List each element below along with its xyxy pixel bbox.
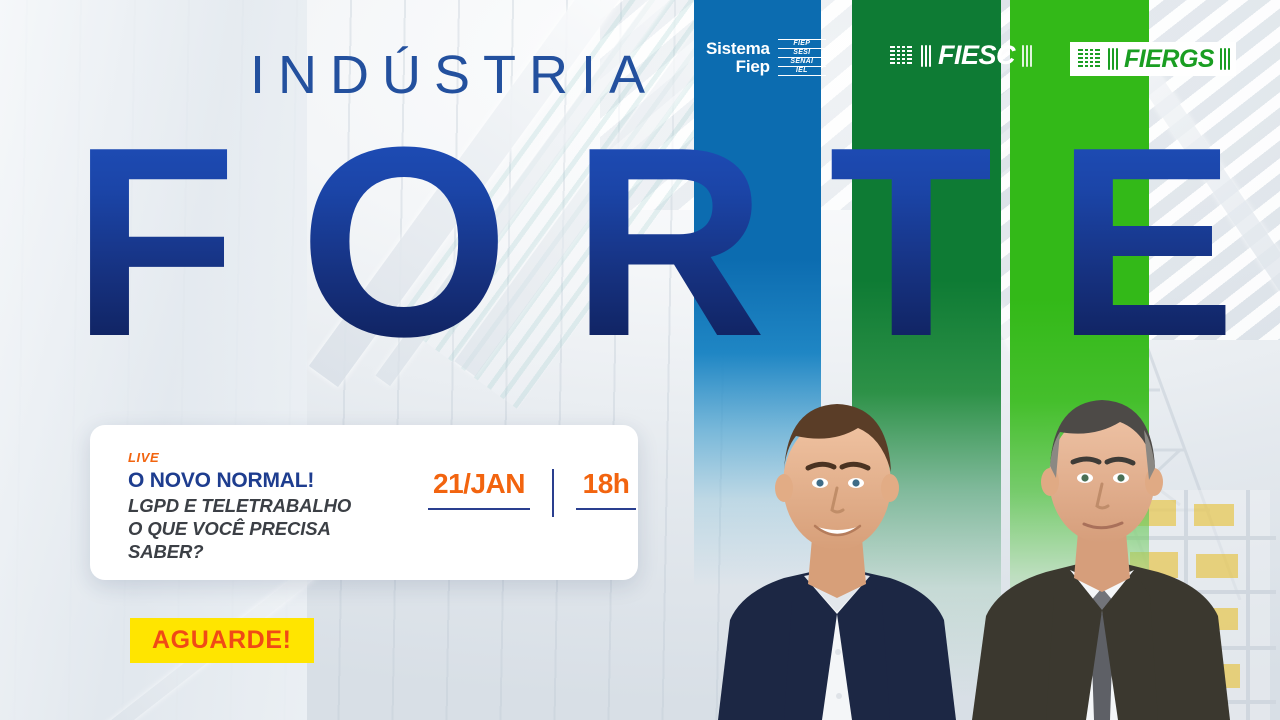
logo-sistema-fiep: Sistema Fiep FIEP SESI SENAI IEL	[706, 40, 826, 76]
aguarde-badge[interactable]: AGUARDE!	[130, 618, 314, 663]
fiesc-emblem-icon	[888, 43, 914, 69]
fiergs-emblem-icon	[1076, 46, 1102, 72]
event-date-value: 21/JAN	[433, 469, 525, 499]
page-title: F O R T E	[72, 108, 1232, 378]
presenters	[672, 352, 1280, 720]
wordmark-letter-e: E	[1056, 108, 1232, 378]
logo-fiesc: FIESC	[888, 42, 1032, 69]
schedule-divider	[552, 469, 554, 517]
logo-fiep-line1: Sistema	[706, 40, 770, 58]
logo-fiesc-wordmark: FIESC	[938, 42, 1015, 69]
fiesc-bars-right-icon	[1022, 45, 1032, 67]
event-title: O NOVO NORMAL!	[128, 468, 428, 494]
logo-fiep-line2: Fiep	[706, 58, 770, 76]
event-schedule: 21/JAN 18h	[428, 425, 636, 517]
live-badge-label: LIVE	[128, 451, 428, 465]
wordmark-letter-f: F	[72, 108, 233, 378]
event-date-rule	[428, 508, 530, 510]
fiergs-bars-left-icon	[1108, 48, 1118, 70]
aguarde-badge-label: AGUARDE!	[152, 626, 292, 654]
fiesc-bars-left-icon	[921, 45, 931, 67]
event-info-card: LIVE O NOVO NORMAL! LGPD E TELETRABALHO …	[90, 425, 638, 580]
logo-fiergs-wordmark: FIERGS	[1124, 47, 1214, 72]
event-time: 18h	[576, 469, 636, 510]
event-info-text: LIVE O NOVO NORMAL! LGPD E TELETRABALHO …	[90, 425, 428, 563]
event-subtitle-line-1: LGPD E TELETRABALHO	[128, 495, 428, 517]
event-subtitle-line-3: SABER?	[128, 541, 428, 563]
event-subtitle-line-2: O QUE VOCÊ PRECISA	[128, 518, 428, 540]
logo-sistema-fiep-wordmark: Sistema Fiep	[706, 40, 770, 76]
logo-fiergs: FIERGS	[1070, 42, 1236, 76]
logo-unit-iel: IEL	[778, 66, 826, 76]
event-date: 21/JAN	[428, 469, 530, 510]
wordmark-letter-r: R	[571, 108, 762, 378]
logo-fiep-units: FIEP SESI SENAI IEL	[778, 40, 826, 76]
presenter-right	[930, 352, 1280, 720]
wordmark-letter-o: O	[299, 108, 505, 378]
promo-banner: Sistema Fiep FIEP SESI SENAI IEL FIESC	[0, 0, 1280, 720]
event-time-rule	[576, 508, 636, 510]
wordmark-letter-t: T	[829, 108, 990, 378]
event-time-value: 18h	[583, 469, 630, 499]
fiergs-bars-right-icon	[1220, 48, 1230, 70]
